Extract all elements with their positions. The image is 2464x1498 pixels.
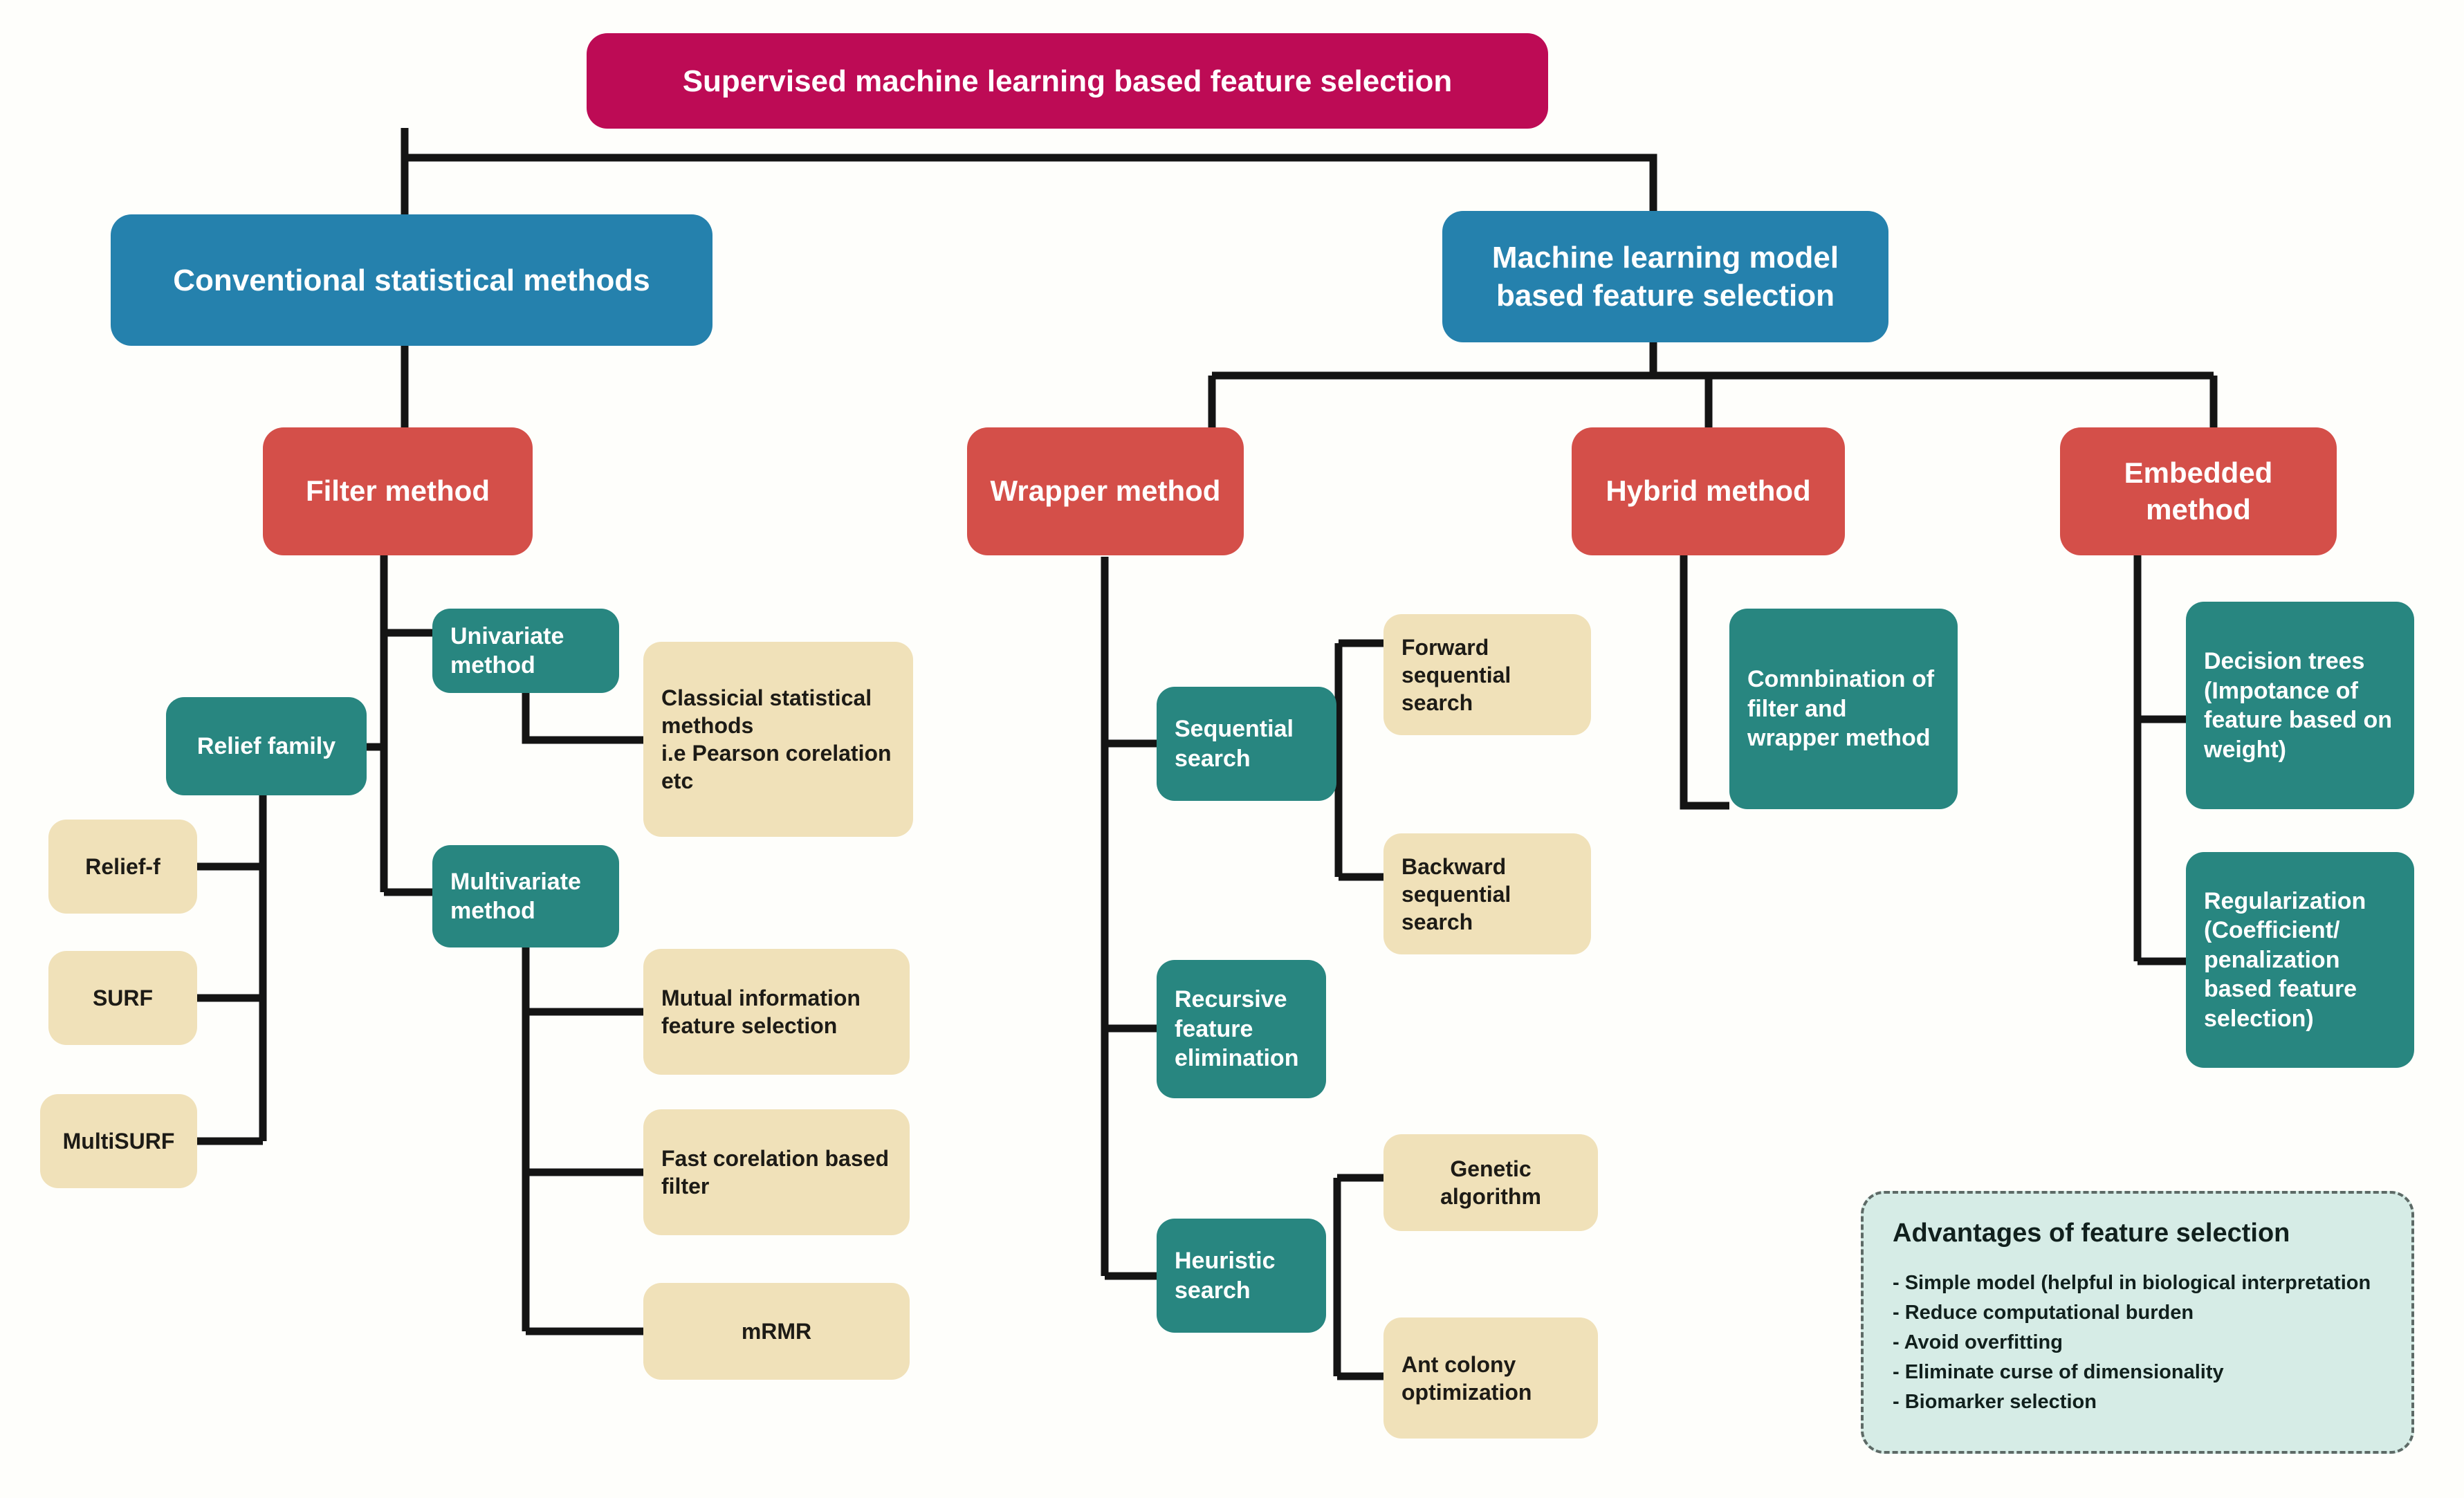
node-conventional-statistical-methods[interactable]: Conventional statistical methods	[111, 214, 712, 346]
root-node-supervised-feature-selection[interactable]: Supervised machine learning based featur…	[587, 33, 1548, 129]
node-hybrid-method-label: Hybrid method	[1590, 473, 1827, 510]
node-combination-label: Comnbination of filter and wrapper metho…	[1747, 665, 1940, 753]
node-filter-method-label: Filter method	[281, 473, 515, 510]
node-backward-sequential-search[interactable]: Backward sequential search	[1383, 833, 1591, 954]
legend-item: Avoid overfitting	[1893, 1331, 2382, 1354]
node-backward-sequential-label: Backward sequential search	[1401, 853, 1573, 936]
node-filter-method[interactable]: Filter method	[263, 427, 533, 555]
legend-item: Simple model (helpful in biological inte…	[1893, 1272, 2382, 1295]
node-wrapper-method[interactable]: Wrapper method	[967, 427, 1244, 555]
node-relief-f[interactable]: Relief-f	[48, 820, 197, 914]
diagram-canvas: Supervised machine learning based featur…	[0, 0, 2464, 1498]
legend-item: Reduce computational burden	[1893, 1302, 2382, 1324]
root-node-label: Supervised machine learning based featur…	[605, 62, 1530, 100]
node-recursive-feature-elimination[interactable]: Recursive feature elimination	[1157, 960, 1326, 1098]
advantages-legend-panel: Advantages of feature selection Simple m…	[1861, 1191, 2414, 1454]
node-decision-trees[interactable]: Decision trees (Impotance of feature bas…	[2186, 602, 2414, 809]
node-ml-model-label: Machine learning model based feature sel…	[1460, 239, 1870, 315]
node-embedded-method[interactable]: Embedded method	[2060, 427, 2337, 555]
wire-root-split	[405, 128, 1653, 216]
node-multisurf[interactable]: MultiSURF	[40, 1094, 197, 1188]
node-univariate-method[interactable]: Univariate method	[432, 609, 619, 693]
legend-title: Advantages of feature selection	[1893, 1219, 2382, 1248]
node-conventional-label: Conventional statistical methods	[129, 261, 695, 299]
node-relief-family-label: Relief family	[184, 732, 349, 761]
node-relief-family[interactable]: Relief family	[166, 697, 367, 795]
wire-hybrid-to-combination	[1684, 553, 1729, 806]
node-regularization-label: Regularization (Coefficient/ penalizatio…	[2204, 887, 2396, 1034]
node-genetic-algorithm-label: Genetic algorithm	[1401, 1155, 1580, 1210]
node-multivariate-label: Multivariate method	[450, 867, 601, 926]
node-fast-correlation-label: Fast corelation based filter	[661, 1145, 892, 1200]
node-classical-statistical-methods[interactable]: Classicial statistical methods i.e Pears…	[643, 642, 913, 837]
node-univariate-label: Univariate method	[450, 622, 601, 681]
node-regularization[interactable]: Regularization (Coefficient/ penalizatio…	[2186, 852, 2414, 1068]
node-relief-f-label: Relief-f	[66, 853, 179, 880]
node-mutual-information-feature-selection[interactable]: Mutual information feature selection	[643, 949, 910, 1075]
node-embedded-method-label: Embedded method	[2078, 455, 2319, 528]
node-classical-statistical-label: Classicial statistical methods i.e Pears…	[661, 684, 895, 795]
legend-item: Biomarker selection	[1893, 1391, 2382, 1414]
node-surf[interactable]: SURF	[48, 951, 197, 1045]
node-combination-filter-wrapper[interactable]: Comnbination of filter and wrapper metho…	[1729, 609, 1958, 809]
node-recursive-feature-elimination-label: Recursive feature elimination	[1175, 985, 1308, 1073]
node-mrmr[interactable]: mRMR	[643, 1283, 910, 1380]
node-wrapper-method-label: Wrapper method	[985, 473, 1226, 510]
node-hybrid-method[interactable]: Hybrid method	[1572, 427, 1845, 555]
node-forward-sequential-search[interactable]: Forward sequential search	[1383, 614, 1591, 735]
node-surf-label: SURF	[66, 984, 179, 1012]
node-ml-model-based-feature-selection[interactable]: Machine learning model based feature sel…	[1442, 211, 1888, 342]
node-heuristic-search-label: Heuristic search	[1175, 1246, 1308, 1305]
node-ant-colony-label: Ant colony optimization	[1401, 1351, 1580, 1406]
node-ant-colony-optimization[interactable]: Ant colony optimization	[1383, 1317, 1598, 1439]
node-multivariate-method[interactable]: Multivariate method	[432, 845, 619, 947]
node-forward-sequential-label: Forward sequential search	[1401, 634, 1573, 716]
node-fast-correlation-based-filter[interactable]: Fast corelation based filter	[643, 1109, 910, 1235]
node-heuristic-search[interactable]: Heuristic search	[1157, 1219, 1326, 1333]
node-multisurf-label: MultiSURF	[58, 1127, 179, 1155]
legend-item: Eliminate curse of dimensionality	[1893, 1361, 2382, 1384]
node-decision-trees-label: Decision trees (Impotance of feature bas…	[2204, 647, 2396, 764]
node-genetic-algorithm[interactable]: Genetic algorithm	[1383, 1134, 1598, 1231]
node-mrmr-label: mRMR	[661, 1317, 892, 1345]
node-sequential-search-label: Sequential search	[1175, 714, 1318, 773]
legend-list: Simple model (helpful in biological inte…	[1893, 1272, 2382, 1414]
node-mutual-information-label: Mutual information feature selection	[661, 984, 892, 1039]
wire-univariate-to-classical	[526, 692, 643, 740]
node-sequential-search[interactable]: Sequential search	[1157, 687, 1336, 801]
